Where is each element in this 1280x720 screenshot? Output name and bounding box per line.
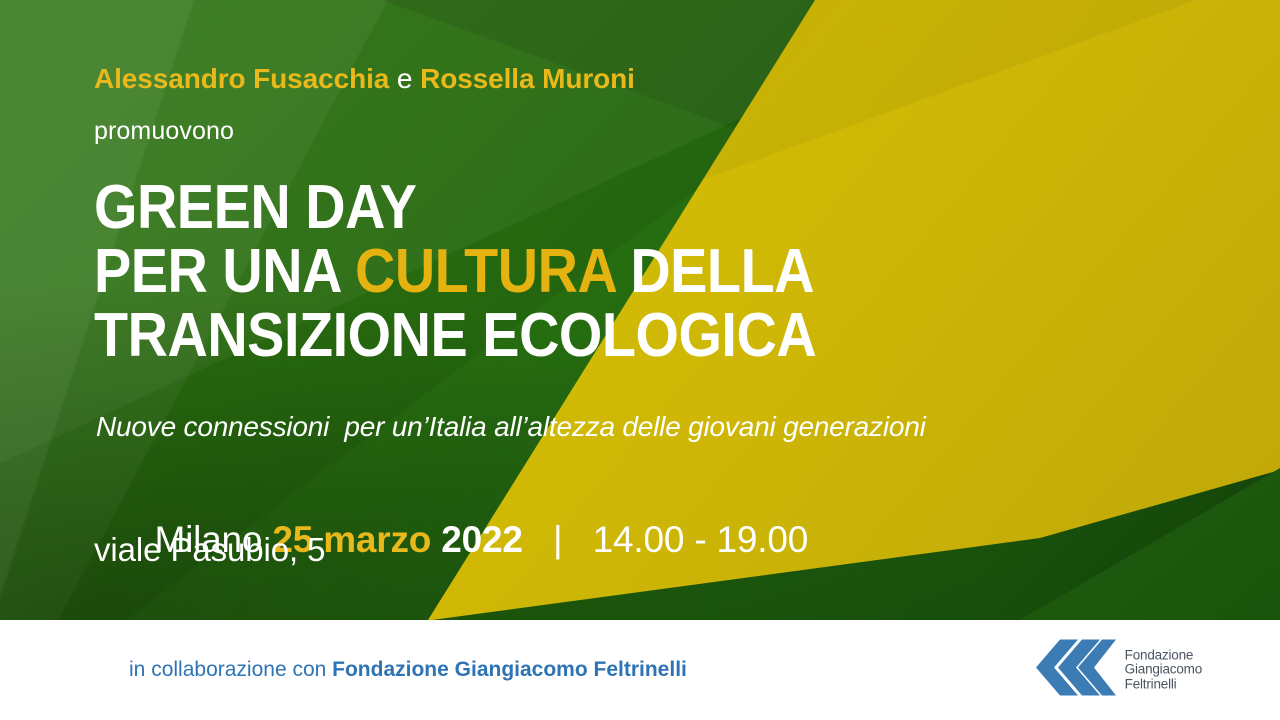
collaboration-line: in collaborazione con Fondazione Giangia… — [94, 634, 687, 706]
promoters-conjunction: e — [389, 63, 420, 94]
event-poster: Alessandro Fusacchia e Rossella Muroni p… — [0, 0, 1280, 720]
promoter-name-second: Rossella Muroni — [420, 63, 635, 94]
poster-subtitle: Nuove connessioni per un’Italia all’alte… — [96, 411, 926, 443]
poster-footer: in collaborazione con Fondazione Giangia… — [0, 620, 1280, 720]
logo-word-line-2: Giangiacomo — [1125, 663, 1202, 678]
title-line-3: TRANSIZIONE ECOLOGICA — [94, 304, 994, 368]
event-separator: | — [523, 519, 593, 560]
page-title: GREEN DAY PER UNA CULTURA DELLA TRANSIZI… — [94, 176, 994, 368]
title-line-2-after: DELLA — [615, 237, 814, 306]
promoters-line: Alessandro Fusacchia e Rossella Muroni — [94, 63, 635, 95]
title-line-2: PER UNA CULTURA DELLA — [94, 240, 994, 304]
promoters-verb: promuovono — [94, 117, 234, 146]
logo-word-line-1: Fondazione — [1125, 648, 1202, 663]
feltrinelli-logo: Fondazione Giangiacomo Feltrinelli — [1032, 640, 1202, 701]
triple-chevron-icon — [1032, 640, 1116, 701]
title-line-1: GREEN DAY — [94, 176, 994, 240]
partner-name: Fondazione Giangiacomo Feltrinelli — [332, 658, 687, 681]
logo-word-line-3: Feltrinelli — [1125, 677, 1202, 692]
title-line-2-before: PER UNA — [94, 237, 355, 306]
event-time: 14.00 - 19.00 — [593, 519, 808, 560]
logo-wordmark: Fondazione Giangiacomo Feltrinelli — [1125, 648, 1202, 692]
collaboration-prefix: in collaborazione con — [129, 658, 332, 681]
promoter-name-first: Alessandro Fusacchia — [94, 63, 389, 94]
poster-content: Alessandro Fusacchia e Rossella Muroni p… — [94, 0, 1224, 620]
event-address: viale Pasubio, 5 — [94, 531, 325, 569]
title-highlight-cultura: CULTURA — [355, 237, 615, 306]
event-year: 2022 — [431, 519, 523, 560]
